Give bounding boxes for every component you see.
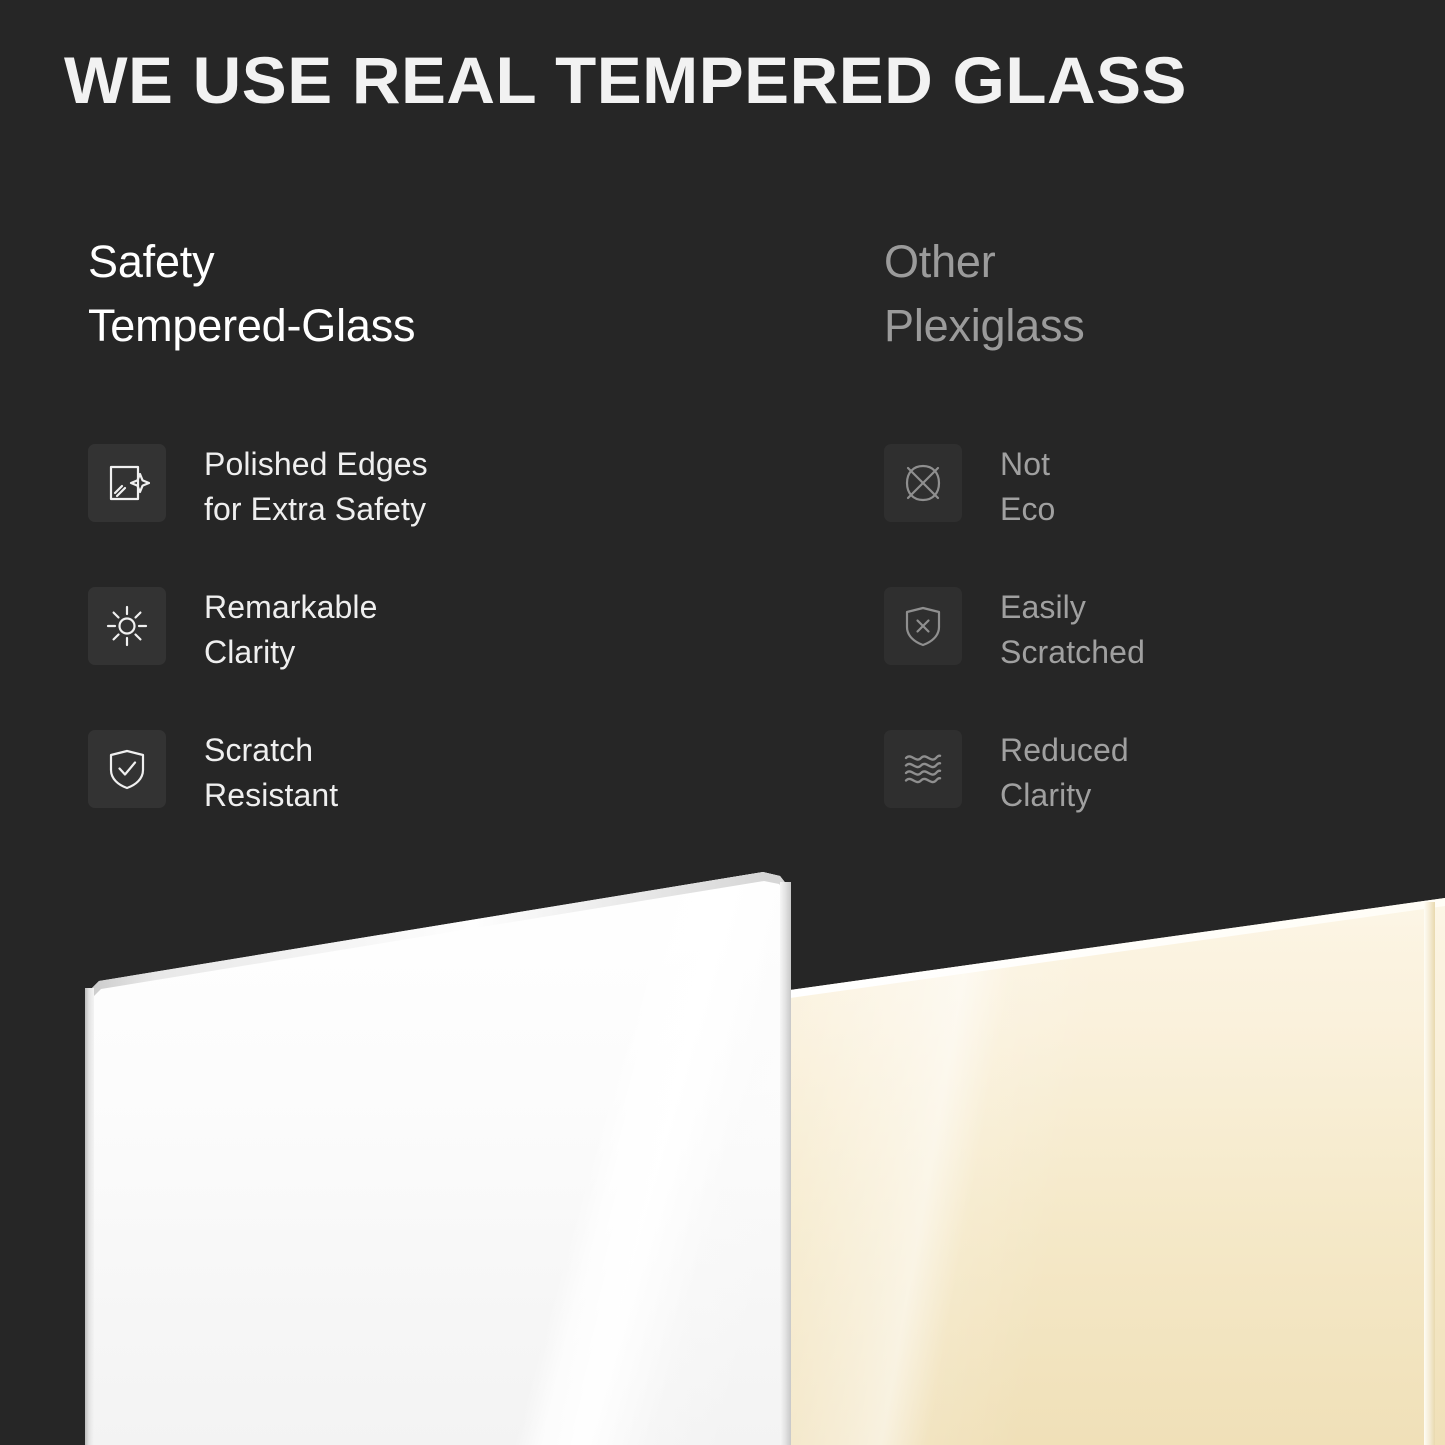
- feature-easily-scratched: Easily Scratched: [884, 583, 1404, 726]
- plexiglass-panel-right-edge: [1424, 902, 1435, 1445]
- tempered-glass-panel-left-edge: [85, 988, 94, 1445]
- column-heading-right: Other Plexiglass: [884, 230, 1404, 358]
- feature-label-not-eco: Not Eco: [1000, 440, 1055, 533]
- wavy-lines-icon: [884, 730, 962, 808]
- column-other-plexiglass: Other Plexiglass Not Eco: [884, 230, 1404, 358]
- feature-label-line2: Eco: [1000, 487, 1055, 532]
- column-heading-left-line1: Safety: [88, 236, 214, 287]
- tempered-glass-panel: [85, 850, 791, 1445]
- feature-label-reduced-clarity: Reduced Clarity: [1000, 726, 1129, 819]
- feature-label-line2: Scratched: [1000, 630, 1145, 675]
- feature-label-line2: for Extra Safety: [204, 487, 428, 532]
- feature-label-polished-edges: Polished Edges for Extra Safety: [204, 440, 428, 533]
- tempered-glass-panel-right-edge: [780, 882, 791, 1445]
- glass-panels-scene: [0, 840, 1445, 1445]
- comparison-columns: Safety Tempered-Glass Polished Edges for…: [0, 230, 1445, 850]
- polished-glass-sparkle-icon: [88, 444, 166, 522]
- feature-label-line1: Easily: [1000, 589, 1086, 625]
- shield-x-icon: [884, 587, 962, 665]
- feature-label-line2: Clarity: [1000, 773, 1129, 818]
- column-safety-tempered-glass: Safety Tempered-Glass Polished Edges for…: [88, 230, 848, 358]
- plexiglass-panel: [790, 840, 1445, 1445]
- shield-check-icon: [88, 730, 166, 808]
- feature-label-line2: Resistant: [204, 773, 338, 818]
- feature-list-left: Polished Edges for Extra Safety Remarkab…: [88, 440, 848, 869]
- feature-label-scratch-resistant: Scratch Resistant: [204, 726, 338, 819]
- feature-label-remarkable-clarity: Remarkable Clarity: [204, 583, 378, 676]
- page-title: WE USE REAL TEMPERED GLASS: [64, 46, 1421, 115]
- feature-label-easily-scratched: Easily Scratched: [1000, 583, 1145, 676]
- feature-list-right: Not Eco Easily Scratched: [884, 440, 1404, 869]
- column-heading-left: Safety Tempered-Glass: [88, 230, 848, 358]
- feature-label-line1: Reduced: [1000, 732, 1129, 768]
- feature-remarkable-clarity: Remarkable Clarity: [88, 583, 848, 726]
- column-heading-right-line1: Other: [884, 236, 996, 287]
- feature-label-line1: Remarkable: [204, 589, 378, 625]
- feature-label-line2: Clarity: [204, 630, 378, 675]
- column-heading-left-line2: Tempered-Glass: [88, 294, 848, 358]
- sun-clarity-icon: [88, 587, 166, 665]
- feature-label-line1: Polished Edges: [204, 446, 428, 482]
- feature-not-eco: Not Eco: [884, 440, 1404, 583]
- feature-polished-edges: Polished Edges for Extra Safety: [88, 440, 848, 583]
- feature-label-line1: Scratch: [204, 732, 313, 768]
- feature-label-line1: Not: [1000, 446, 1050, 482]
- column-heading-right-line2: Plexiglass: [884, 294, 1404, 358]
- leaf-crossed-out-icon: [884, 444, 962, 522]
